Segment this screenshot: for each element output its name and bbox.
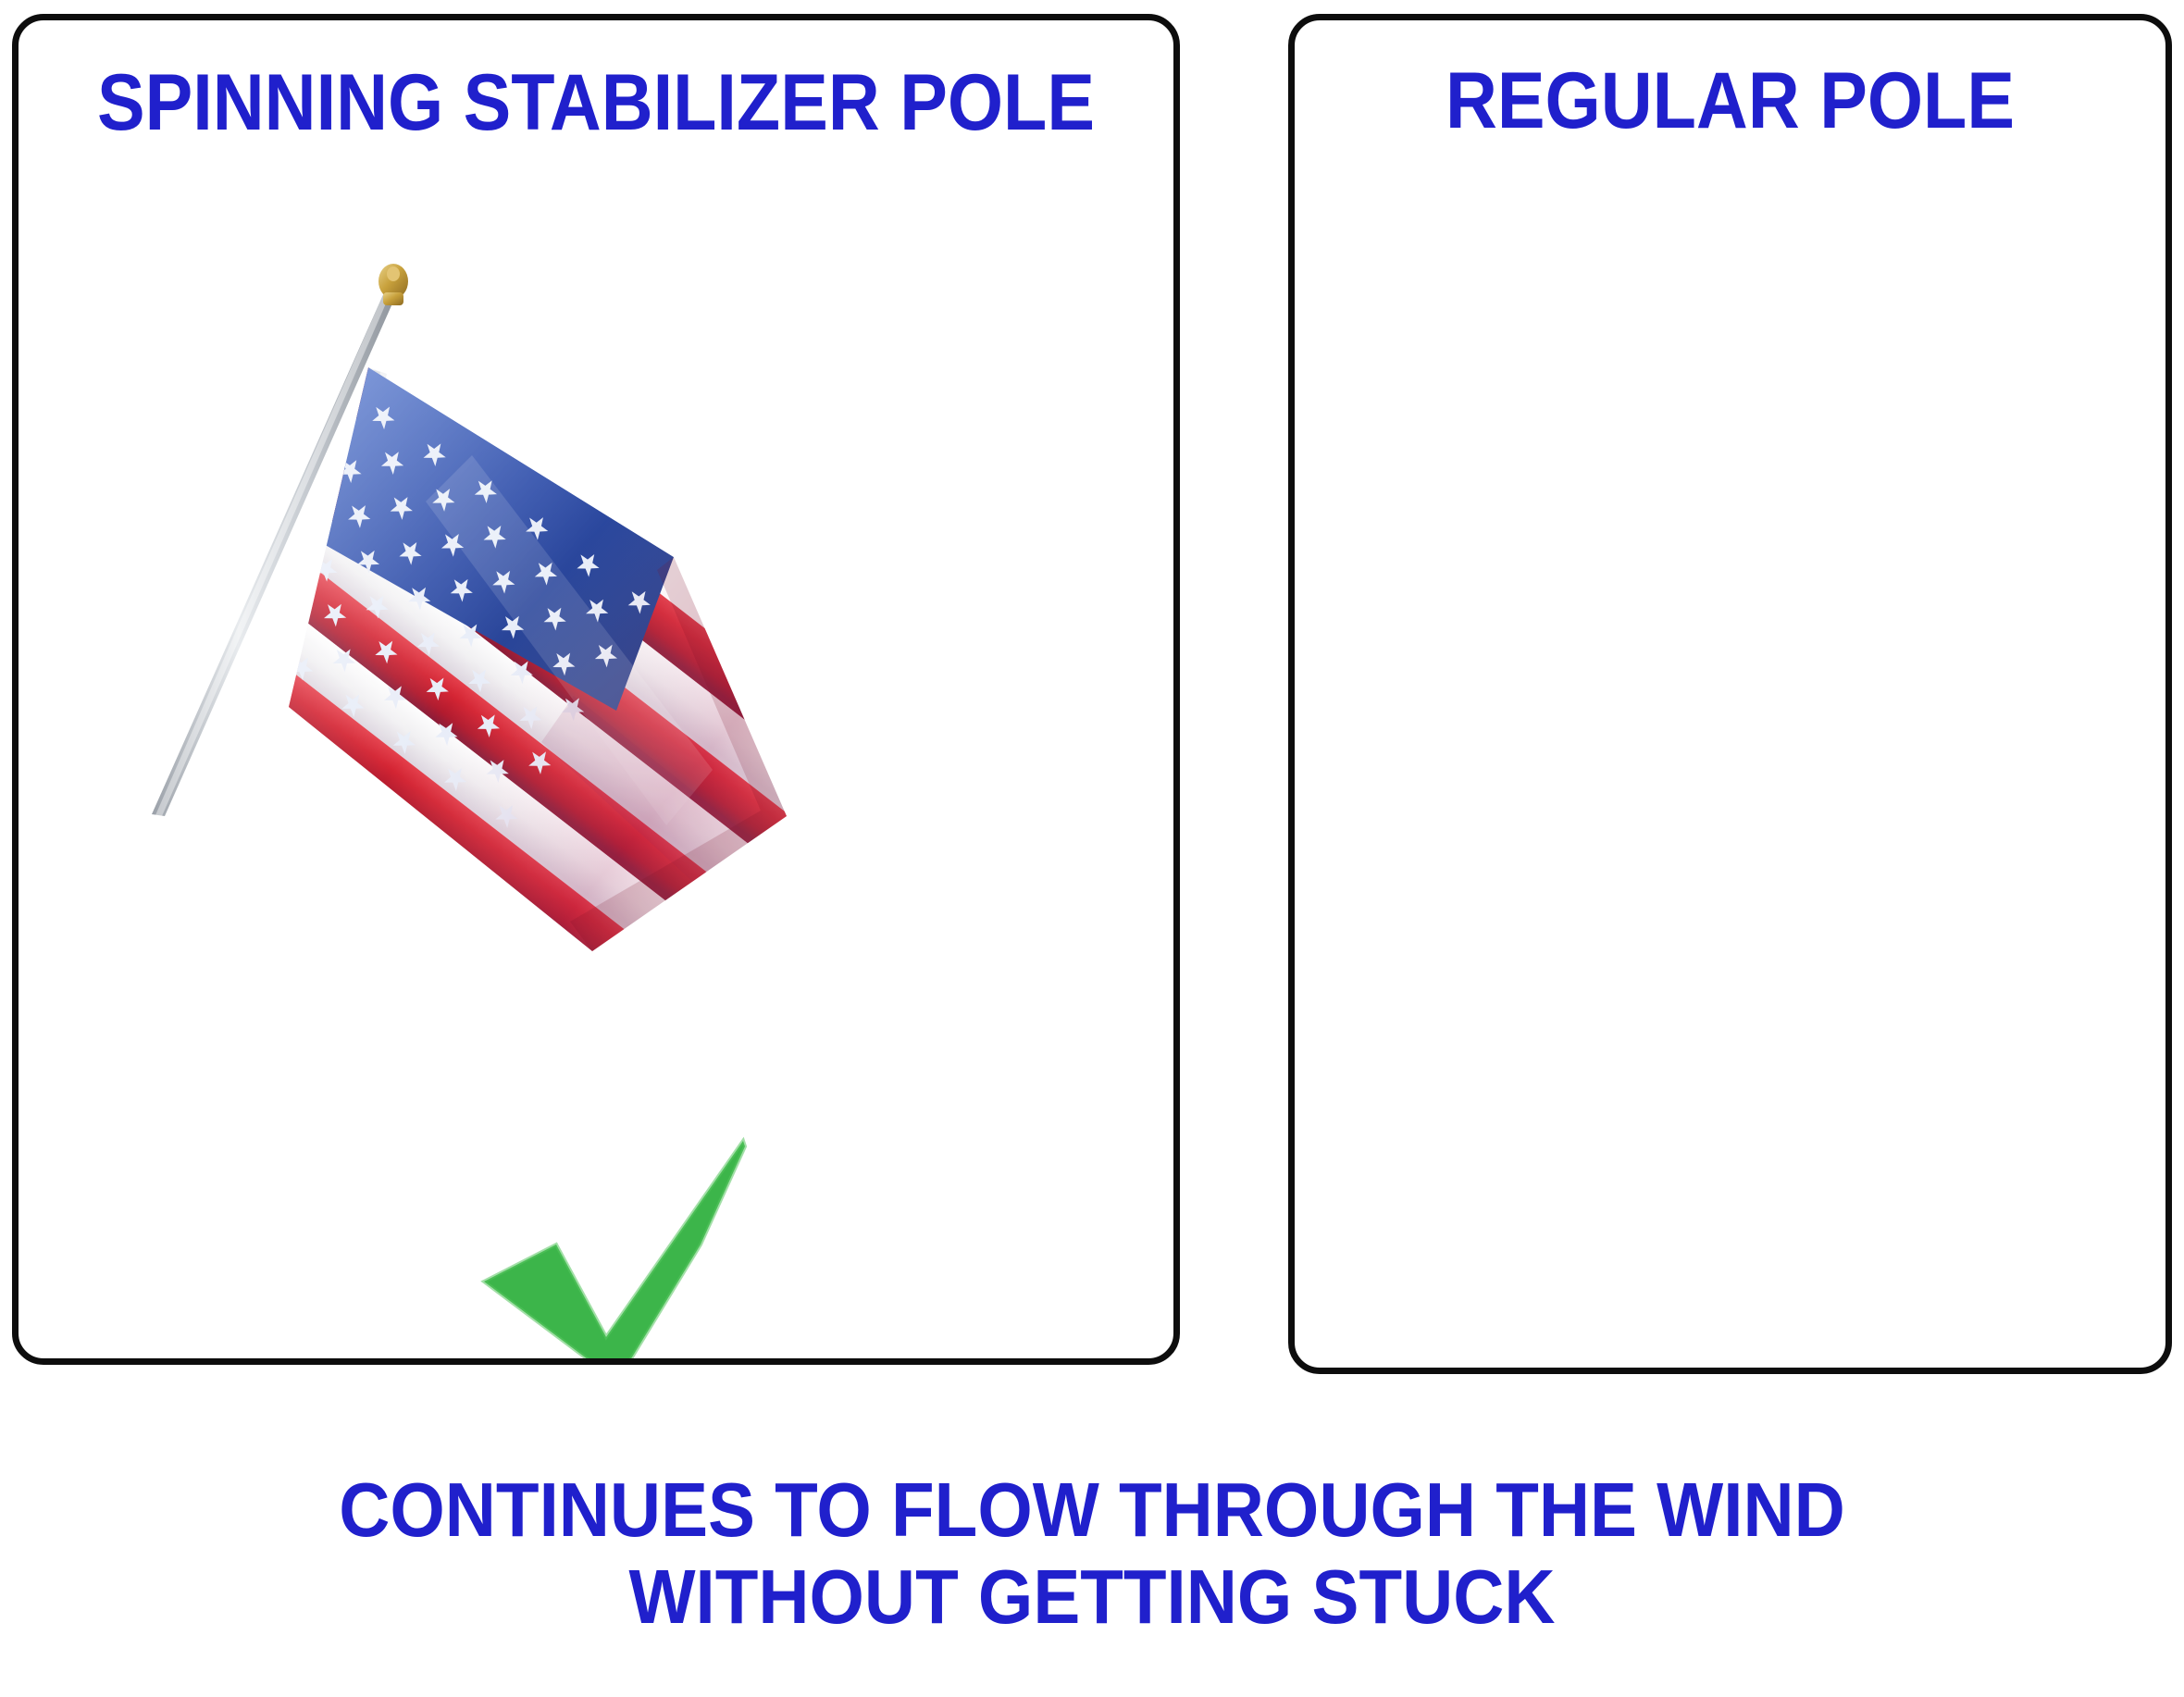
panel-spinning-stabilizer-pole: SPINNING STABILIZER POLE bbox=[12, 14, 1180, 1365]
american-flag-flying-image bbox=[74, 178, 1166, 1158]
panel-title-spinning-stabilizer-pole: SPINNING STABILIZER POLE bbox=[76, 57, 1115, 149]
caption-line-1: CONTINUES TO FLOW THROUGH THE WIND bbox=[87, 1467, 2096, 1554]
comparison-infographic: SPINNING STABILIZER POLE bbox=[0, 0, 2184, 1697]
flag-body bbox=[74, 367, 927, 1158]
panel-regular-pole: REGULAR POLE bbox=[1288, 14, 2172, 1374]
caption: CONTINUES TO FLOW THROUGH THE WIND WITHO… bbox=[87, 1467, 2096, 1641]
caption-line-2: WITHOUT GETTING STUCK bbox=[87, 1554, 2096, 1641]
panel-title-regular-pole: REGULAR POLE bbox=[1338, 56, 2122, 147]
check-icon bbox=[469, 1126, 765, 1365]
